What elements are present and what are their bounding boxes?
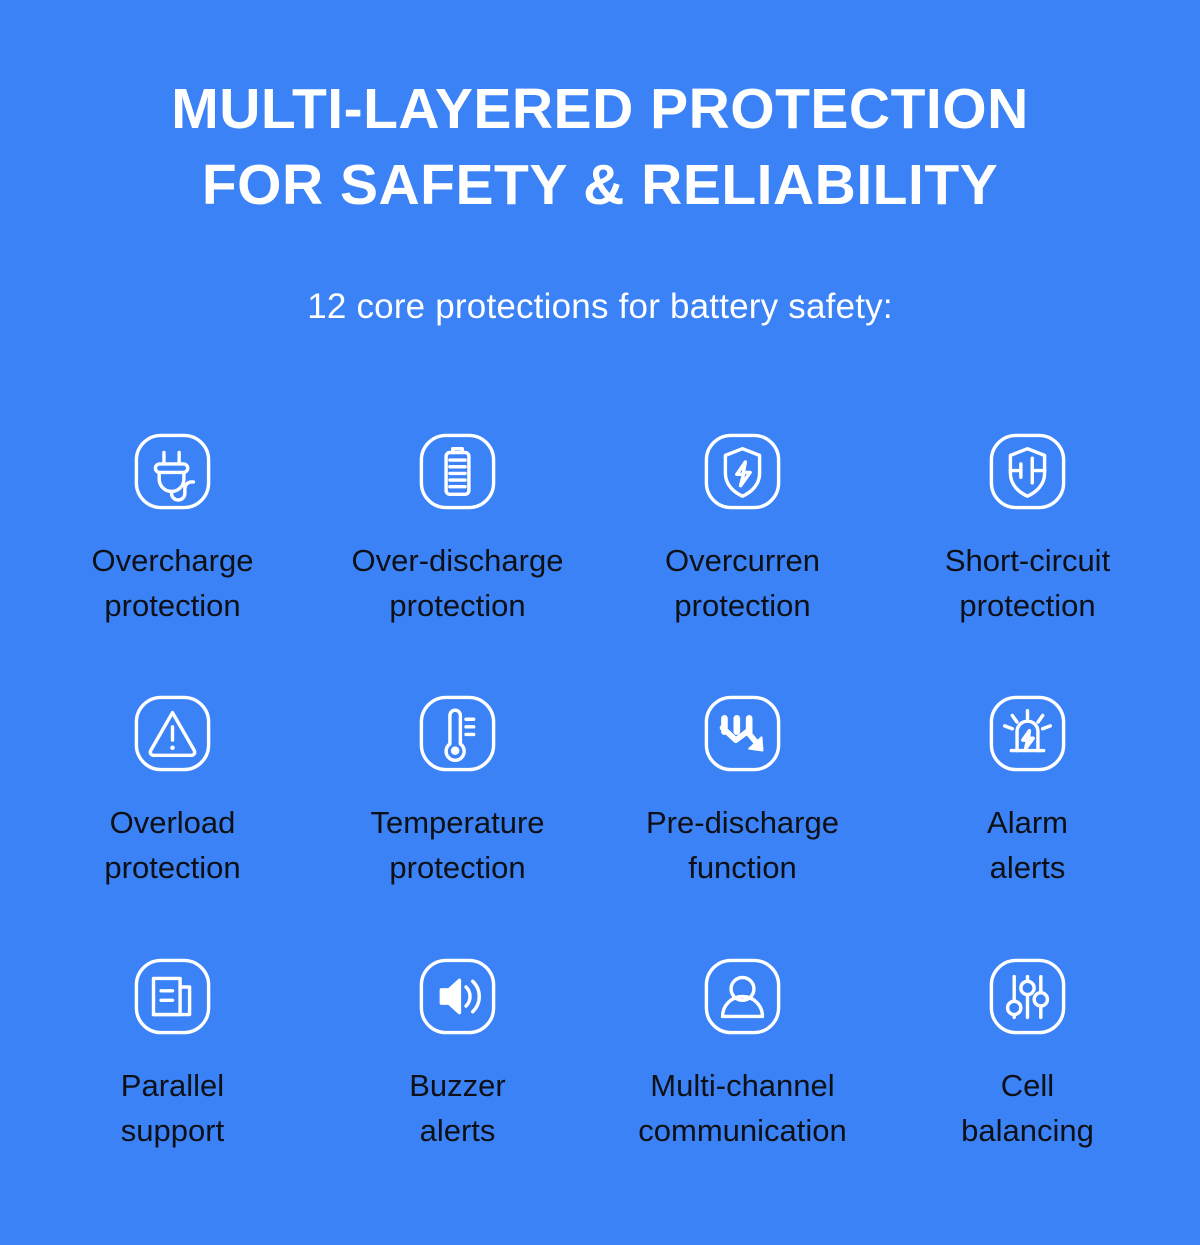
shield-bolt-icon bbox=[695, 424, 790, 519]
feature-label: Overload protection bbox=[104, 801, 240, 891]
feature-label: Multi-channel communication bbox=[638, 1064, 846, 1154]
feature-item-multi-channel: Multi-channel communication bbox=[600, 949, 885, 1154]
feature-item-overcurrent: Overcurren protection bbox=[600, 424, 885, 629]
feature-grid: Overcharge protection Over-discharge pro… bbox=[30, 424, 1170, 1155]
feature-label: Pre-discharge function bbox=[646, 801, 839, 891]
warning-triangle-icon bbox=[125, 686, 220, 781]
feature-label: Temperature protection bbox=[370, 801, 544, 891]
page-title: MULTI-LAYERED PROTECTION FOR SAFETY & RE… bbox=[95, 72, 1105, 224]
user-person-icon bbox=[695, 949, 790, 1044]
power-plug-icon bbox=[125, 424, 220, 519]
feature-label: Cell balancing bbox=[961, 1064, 1094, 1154]
sliders-icon bbox=[980, 949, 1075, 1044]
feature-item-overload: Overload protection bbox=[30, 686, 315, 891]
declining-chart-icon bbox=[695, 686, 790, 781]
feature-label: Overcharge protection bbox=[92, 539, 254, 629]
page-title-line-1: MULTI-LAYERED PROTECTION bbox=[95, 72, 1105, 148]
protection-infographic: MULTI-LAYERED PROTECTION FOR SAFETY & RE… bbox=[0, 0, 1200, 1245]
feature-item-over-discharge: Over-discharge protection bbox=[315, 424, 600, 629]
feature-item-overcharge: Overcharge protection bbox=[30, 424, 315, 629]
speaker-sound-icon bbox=[410, 949, 505, 1044]
feature-item-buzzer: Buzzer alerts bbox=[315, 949, 600, 1154]
document-lines-icon bbox=[125, 949, 220, 1044]
feature-label: Alarm alerts bbox=[987, 801, 1068, 891]
feature-item-short-circuit: Short-circuit protection bbox=[885, 424, 1170, 629]
page-subtitle: 12 core protections for battery safety: bbox=[307, 286, 893, 328]
feature-label: Overcurren protection bbox=[665, 539, 820, 629]
page-title-line-2: FOR SAFETY & RELIABILITY bbox=[95, 148, 1105, 224]
feature-item-pre-discharge: Pre-discharge function bbox=[600, 686, 885, 891]
feature-item-cell-balancing: Cell balancing bbox=[885, 949, 1170, 1154]
shield-circuit-icon bbox=[980, 424, 1075, 519]
battery-icon bbox=[410, 424, 505, 519]
thermometer-icon bbox=[410, 686, 505, 781]
feature-label: Parallel support bbox=[121, 1064, 224, 1154]
feature-label: Short-circuit protection bbox=[945, 539, 1110, 629]
feature-item-alarm: Alarm alerts bbox=[885, 686, 1170, 891]
alarm-siren-icon bbox=[980, 686, 1075, 781]
feature-item-parallel-support: Parallel support bbox=[30, 949, 315, 1154]
feature-item-temperature: Temperature protection bbox=[315, 686, 600, 891]
feature-label: Buzzer alerts bbox=[409, 1064, 505, 1154]
feature-label: Over-discharge protection bbox=[352, 539, 564, 629]
